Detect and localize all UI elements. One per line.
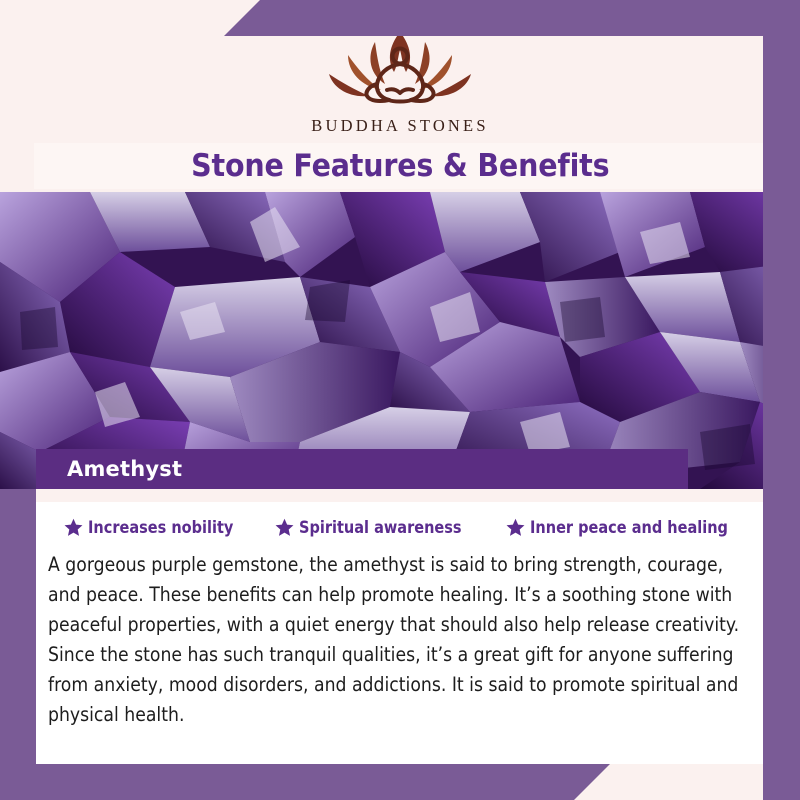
benefit-label: Increases nobility [88,518,233,537]
amethyst-crystal-cluster-icon [0,192,800,489]
benefit-item: Increases nobility [64,518,253,537]
frame-border-bottom [0,764,610,800]
benefit-item: Spiritual awareness [275,518,484,537]
panel-spacer [0,489,800,502]
star-icon [275,518,294,537]
benefit-label: Inner peace and healing [530,518,728,537]
page-title: Stone Features & Benefits [191,148,609,184]
content-panel: Increases nobility Spiritual awareness I… [36,502,763,764]
stone-name-banner: Amethyst [36,449,688,489]
frame-border-left [0,489,36,800]
benefit-label: Spiritual awareness [299,518,462,537]
star-icon [64,518,83,537]
benefit-item: Inner peace and healing [506,518,755,537]
section-title-bar: Stone Features & Benefits [34,143,766,189]
frame-border-top [224,0,800,36]
benefits-list: Increases nobility Spiritual awareness I… [36,502,763,537]
brand-name: BUDDHA STONES [311,116,488,136]
frame-border-right [763,0,800,800]
stone-description: A gorgeous purple gemstone, the amethyst… [48,550,759,730]
stone-info-card: Amethyst [0,0,800,800]
stone-name-label: Amethyst [67,457,182,481]
star-icon [506,518,525,537]
amethyst-photo: Amethyst [0,192,800,489]
brand-logo: BUDDHA STONES [0,22,800,136]
